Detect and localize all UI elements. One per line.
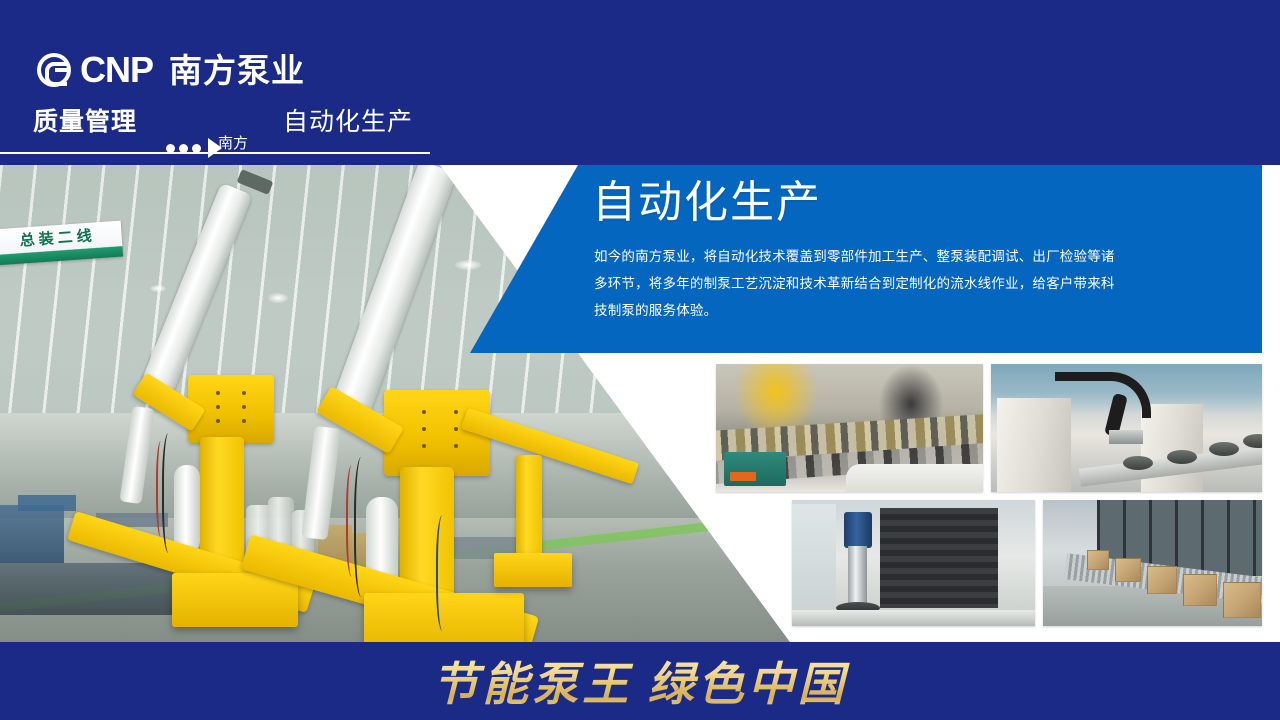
- description-panel: 自动化生产 如今的南方泵业，将自动化技术覆盖到零部件加工生产、整泵装配调试、出厂…: [470, 165, 1262, 353]
- footer-tagline: 节能泵王 绿色中国: [0, 642, 1280, 720]
- thumbnail-robot-loader[interactable]: [991, 364, 1262, 492]
- thumbnail-packing-conveyor[interactable]: [1043, 500, 1262, 626]
- nav-progress-indicator: [166, 138, 222, 158]
- arm-lower-beam: [461, 408, 639, 485]
- three-dots-icon: [179, 144, 188, 153]
- section-title: 质量管理: [33, 110, 137, 135]
- thumb-carton: [1223, 582, 1261, 618]
- thumb-carton: [1147, 566, 1177, 594]
- thumb-carton: [1087, 550, 1109, 570]
- slide-header: CNP 南方泵业 质量管理 南方 自动化生产: [0, 0, 1280, 165]
- logo-latin-text: CNP: [80, 52, 153, 88]
- panel-title: 自动化生产: [592, 179, 822, 227]
- thumb-workpiece: [1167, 450, 1197, 464]
- panel-body-text: 如今的南方泵业，将自动化技术覆盖到零部件加工生产、整泵装配调试、出厂检验等诸多环…: [594, 243, 1119, 324]
- slide-canvas: CNP 南方泵业 质量管理 南方 自动化生产 总装二线: [0, 0, 1280, 720]
- thumb-robot-gripper: [1109, 430, 1143, 444]
- logo-chinese-text: 南方泵业: [169, 54, 305, 87]
- thumb-side-wall: [792, 504, 836, 608]
- thumb-pump-body: [848, 546, 867, 604]
- arm-pneumatic-cylinder: [119, 406, 154, 504]
- brand-short-label: 南方: [218, 136, 248, 151]
- thumb-workpiece: [1243, 434, 1262, 448]
- three-dots-icon: [166, 144, 175, 153]
- arm-hose-red: [346, 465, 360, 577]
- arm-hose-red: [156, 441, 168, 537]
- arm-bolt: [422, 410, 426, 414]
- thumb-pump-motor: [844, 512, 872, 548]
- thumb-orange-marker: [730, 472, 756, 481]
- thumb-bench-backboard: [880, 508, 998, 608]
- arm-bolt: [422, 444, 426, 448]
- thumb-workpiece: [1209, 442, 1239, 456]
- thumb-bench-top: [792, 610, 1035, 626]
- cnp-circle-logo-icon: [37, 53, 71, 87]
- thumb-white-bench: [846, 464, 983, 492]
- arm-base-plate: [494, 553, 572, 587]
- arm-column: [516, 455, 542, 565]
- header-topic-label: 自动化生产: [283, 110, 413, 135]
- thumb-carton: [1183, 574, 1217, 606]
- logo-inner-bar: [55, 68, 68, 72]
- arm-bolt: [422, 427, 426, 431]
- thumb-workpiece: [1123, 456, 1153, 470]
- thumbnail-parts-machining[interactable]: [716, 364, 983, 492]
- three-dots-icon: [192, 144, 201, 153]
- thumbnail-pump-test-bench[interactable]: [792, 500, 1035, 626]
- thumb-carton: [1115, 558, 1141, 582]
- company-logo: CNP 南方泵业: [37, 52, 305, 88]
- arm-pneumatic-cylinder: [301, 426, 340, 540]
